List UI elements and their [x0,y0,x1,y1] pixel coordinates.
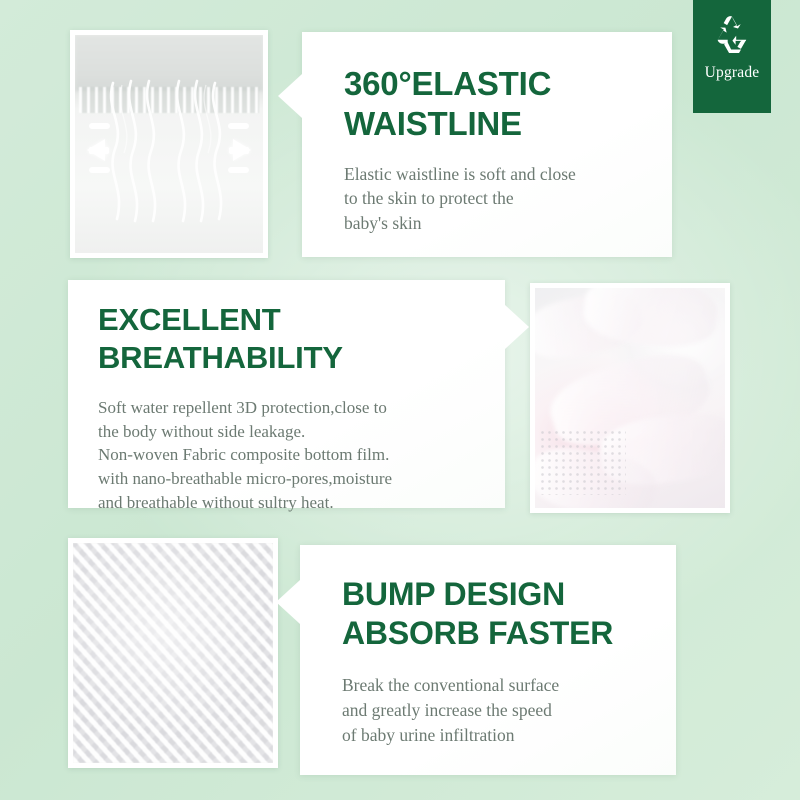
texture-sheen [73,543,273,763]
feature-1-text-card: 360°ELASTIC WAISTLINE Elastic waistline … [302,32,672,257]
feature-2-image-card [530,283,730,513]
right-arrow-dash-bottom [228,167,249,173]
feature-2-pointer-notch [505,305,529,349]
right-arrow-dash-top [228,123,249,129]
feature-1-body: Elastic waistline is soft and close to t… [344,162,642,237]
infographic-canvas: Upgrade [0,0,800,800]
feature-3-image-card [68,538,278,768]
stretch-arrow-right-icon [233,139,251,161]
feature-3-text-card: BUMP DESIGN ABSORB FASTER Break the conv… [300,545,676,775]
micro-pore-dots [539,429,626,495]
diaper-elastic-waistband-photo [75,35,263,253]
recycle-icon [709,12,755,58]
left-arrow-dash-bottom [89,167,110,173]
feature-2-heading: EXCELLENT BREATHABILITY [98,301,479,378]
feature-3-pointer-notch [276,580,300,624]
upgrade-badge: Upgrade [693,0,771,113]
diaper-breathable-fabric-photo [535,288,725,508]
feature-1-pointer-notch [278,74,302,118]
feature-3-body: Break the conventional surface and great… [342,673,650,748]
stretch-arrow-left-icon [87,139,105,161]
feature-1-image-card [70,30,268,258]
diaper-bump-texture-photo [73,543,273,763]
feature-1-heading: 360°ELASTIC WAISTLINE [344,64,642,145]
upgrade-badge-label: Upgrade [705,65,760,81]
left-arrow-dash-top [89,123,110,129]
feature-3-heading: BUMP DESIGN ABSORB FASTER [342,575,650,653]
feature-2-text-card: EXCELLENT BREATHABILITY Soft water repel… [68,280,505,508]
feature-2-body: Soft water repellent 3D protection,close… [98,396,479,515]
